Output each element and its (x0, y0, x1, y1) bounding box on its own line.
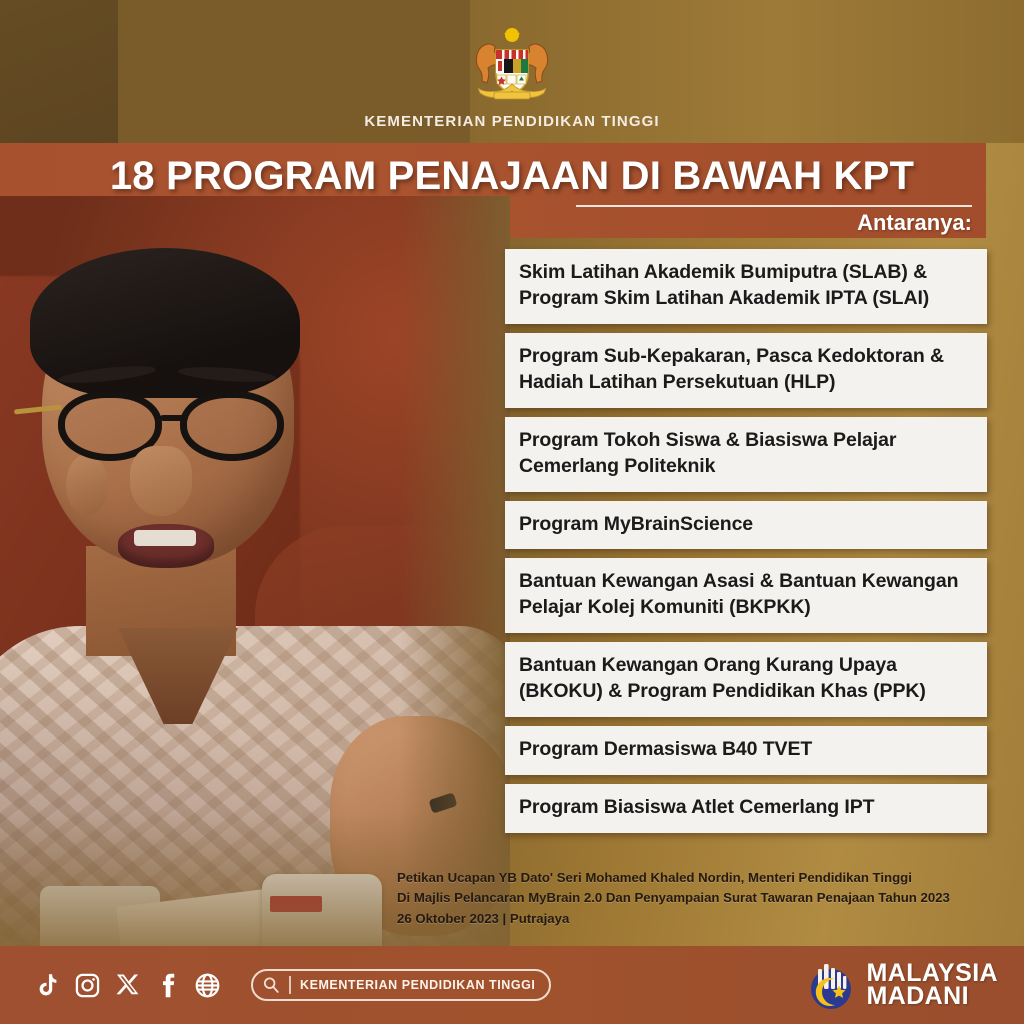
x-twitter-icon[interactable] (114, 972, 141, 999)
brand-line-2: MADANI (867, 985, 998, 1008)
title-underline (576, 205, 972, 207)
facebook-icon[interactable] (154, 972, 181, 999)
lens-right (180, 391, 284, 461)
pill-divider (289, 976, 291, 994)
title-subtitle: Antaranya: (857, 210, 972, 236)
ministry-name-label: KEMENTERIAN PENDIDIKAN TINGGI (0, 113, 1024, 130)
malaysia-madani-brand: MALAYSIA MADANI (805, 959, 998, 1011)
mouth (118, 524, 214, 568)
malaysia-madani-logo-icon (805, 959, 857, 1011)
instagram-icon[interactable] (74, 972, 101, 999)
caption-line-3: 26 Oktober 2023 | Putrajaya (397, 909, 997, 929)
list-item: Program Dermasiswa B40 TVET (505, 726, 987, 775)
caption-block: Petikan Ucapan YB Dato' Seri Mohamed Kha… (397, 868, 997, 929)
list-item: Skim Latihan Akademik Bumiputra (SLAB) &… (505, 249, 987, 324)
page-title: 18 PROGRAM PENAJAAN DI BAWAH KPT (0, 150, 1024, 202)
globe-website-icon[interactable] (194, 972, 221, 999)
ear (66, 454, 108, 516)
search-handle-label: KEMENTERIAN PENDIDIKAN TINGGI (300, 978, 535, 992)
program-list: Skim Latihan Akademik Bumiputra (SLAB) &… (505, 249, 987, 842)
footer-bar: KEMENTERIAN PENDIDIKAN TINGGI MALAYSIA M… (0, 946, 1024, 1024)
minister-photo (0, 196, 510, 962)
list-item: Bantuan Kewangan Orang Kurang Upaya (BKO… (505, 642, 987, 717)
list-item: Program Tokoh Siswa & Biasiswa Pelajar C… (505, 417, 987, 492)
list-item: Program Sub-Kepakaran, Pasca Kedoktoran … (505, 333, 987, 408)
tiktok-icon[interactable] (34, 972, 61, 999)
search-icon (262, 976, 280, 994)
list-item: Program Biasiswa Atlet Cemerlang IPT (505, 784, 987, 833)
malaysia-madani-wordmark: MALAYSIA MADANI (867, 962, 998, 1008)
social-links: KEMENTERIAN PENDIDIKAN TINGGI (34, 969, 551, 1001)
nose (130, 446, 192, 516)
caption-line-1: Petikan Ucapan YB Dato' Seri Mohamed Kha… (397, 868, 997, 888)
glasses-bridge (160, 415, 188, 421)
list-item: Program MyBrainScience (505, 501, 987, 550)
teeth (134, 530, 196, 546)
infographic-poster: KEMENTERIAN PENDIDIKAN TINGGI 18 PROGRAM… (0, 0, 1024, 1024)
search-handle-pill[interactable]: KEMENTERIAN PENDIDIKAN TINGGI (251, 969, 551, 1001)
coat-of-arms-icon (0, 26, 1024, 104)
list-item: Bantuan Kewangan Asasi & Bantuan Kewanga… (505, 558, 987, 633)
caption-line-2: Di Majlis Pelancaran MyBrain 2.0 Dan Pen… (397, 888, 997, 908)
